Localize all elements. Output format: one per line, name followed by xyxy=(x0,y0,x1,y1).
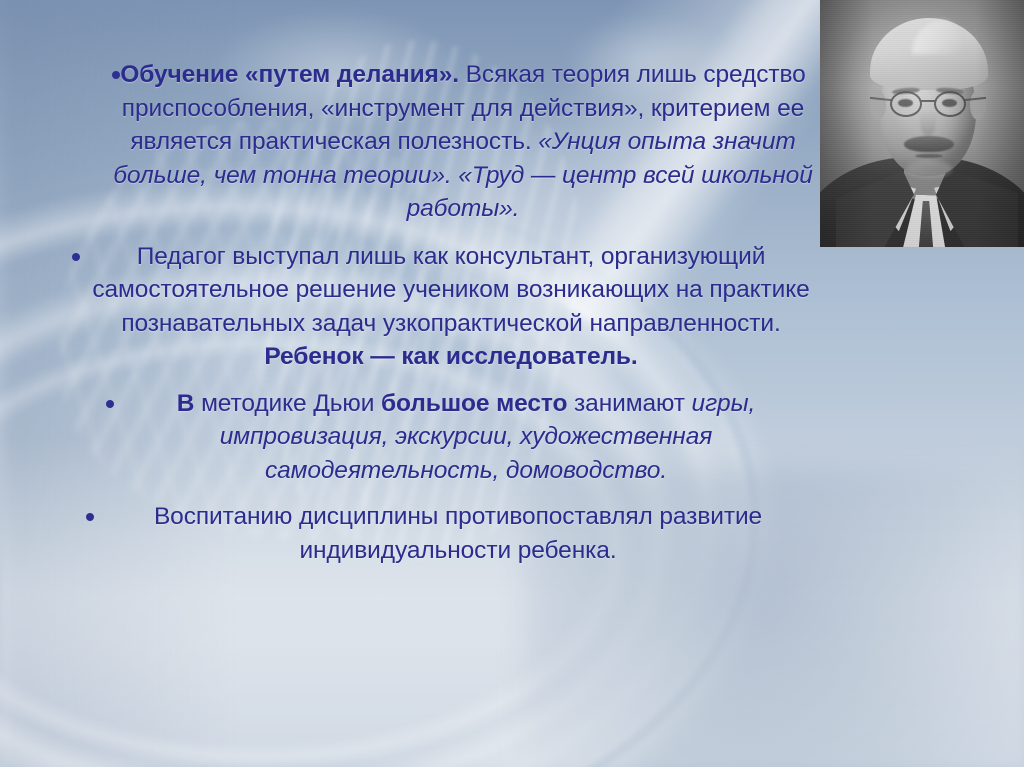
bullet-text-2: Педагог выступал лишь как консультант, о… xyxy=(60,240,820,374)
text-run-bold: Ребенок — как исследователь. xyxy=(264,343,637,370)
text-run-regular: методике Дьюи xyxy=(194,390,381,417)
bullet-item-4: Воспитанию дисциплины противопоставлял р… xyxy=(60,500,820,567)
text-run-bold: большое место xyxy=(381,390,567,417)
bullet-text-1: Обучение «путем делания». Всякая теория … xyxy=(60,58,820,226)
text-run-regular: Педагог выступал лишь как консультант, о… xyxy=(92,243,809,337)
text-run-regular: занимают xyxy=(567,390,691,417)
bullet-text-3: В методике Дьюи большое место занимают и… xyxy=(60,387,820,488)
bullet-marker-icon xyxy=(72,253,80,261)
photo-film-grain xyxy=(820,0,1024,247)
bullet-item-1: Обучение «путем делания». Всякая теория … xyxy=(60,58,820,226)
slide-canvas: Обучение «путем делания». Всякая теория … xyxy=(0,0,1024,767)
bullet-marker-icon xyxy=(86,513,94,521)
bullet-item-2: Педагог выступал лишь как консультант, о… xyxy=(60,240,820,374)
slide-body: Обучение «путем делания». Всякая теория … xyxy=(60,58,820,571)
bullet-marker-icon xyxy=(112,71,120,79)
text-run-bold: В xyxy=(177,390,195,417)
bullet-marker-icon xyxy=(106,400,114,408)
text-run-bold: Обучение «путем делания». xyxy=(120,61,459,88)
bullet-text-4: Воспитанию дисциплины противопоставлял р… xyxy=(60,500,820,567)
portrait-photo xyxy=(820,0,1024,247)
bullet-item-3: В методике Дьюи большое место занимают и… xyxy=(60,387,820,488)
text-run-regular: Воспитанию дисциплины противопоставлял р… xyxy=(154,503,762,564)
